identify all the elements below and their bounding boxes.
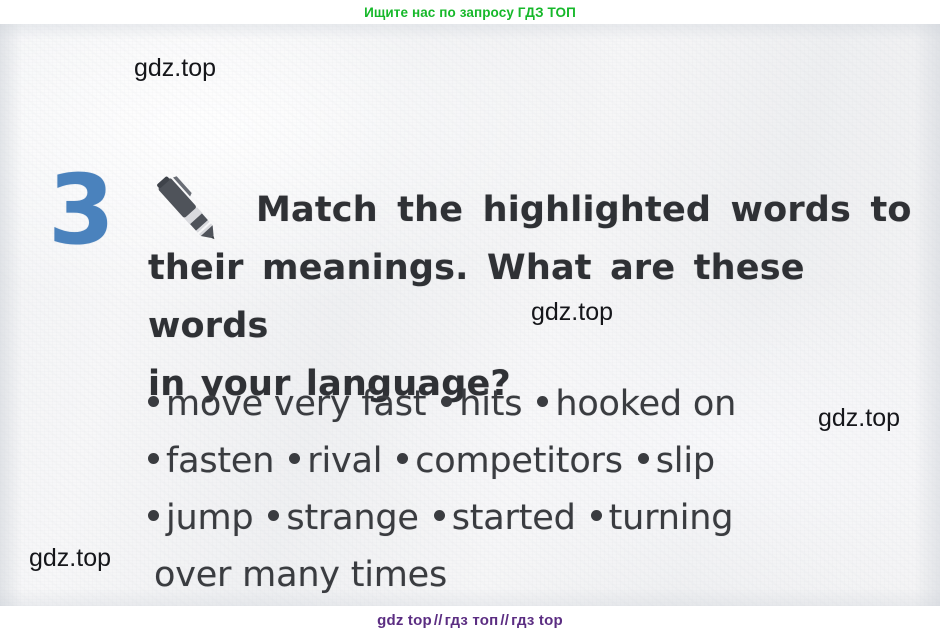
watermark: gdz.top [531,298,613,327]
bullet-icon [537,396,548,407]
bullet-icon [268,510,279,521]
bullet-icon [434,510,445,521]
word-item-continuation: over many times [148,547,918,604]
page-root: Ищите нас по запросу ГДЗ ТОП 3 [0,0,940,634]
word-item: hits [459,384,522,424]
instruction-line-2: their meanings. What are these words [148,239,918,355]
word-bank-line: fastenrivalcompetitorsslip [148,433,918,490]
top-promo-banner: Ищите нас по запросу ГДЗ ТОП [0,0,940,24]
exercise-number: 3 [48,162,115,258]
footer-part-3: гдз top [511,612,563,629]
footer-separator: // [498,612,511,629]
bullet-icon [148,396,159,407]
word-item: competitors [415,441,623,481]
word-item: fasten [166,441,274,481]
footer-part-2: гдз топ [445,612,499,629]
bullet-icon [591,510,602,521]
word-item: slip [656,441,715,481]
word-item: rival [307,441,382,481]
word-bank-list: move very fasthitshooked on fastenrivalc… [148,376,918,604]
bullet-icon [289,453,300,464]
word-item: strange [286,498,418,538]
word-item: jump [166,498,253,538]
bullet-icon [441,396,452,407]
word-item: move very fast [166,384,426,424]
word-item: turning [609,498,734,538]
watermark: gdz.top [134,54,216,83]
word-bank-line: jumpstrangestartedturning [148,490,918,547]
bullet-icon [638,453,649,464]
footer-part-1: gdz top [377,612,432,629]
bullet-icon [148,510,159,521]
scanned-page-image: 3 [0,24,940,606]
watermark: gdz.top [29,544,111,573]
bullet-icon [148,453,159,464]
scanned-page-content: 3 [0,24,940,606]
instruction-line-1: Match the highlighted words to [148,181,918,239]
watermark: gdz.top [818,404,900,433]
bullet-icon [397,453,408,464]
footer-separator: // [432,612,445,629]
word-item: started [452,498,576,538]
footer-site-links: gdz top // гдз топ // гдз top [0,606,940,634]
word-bank-line: move very fasthitshooked on [148,376,918,433]
word-item: hooked on [555,384,736,424]
